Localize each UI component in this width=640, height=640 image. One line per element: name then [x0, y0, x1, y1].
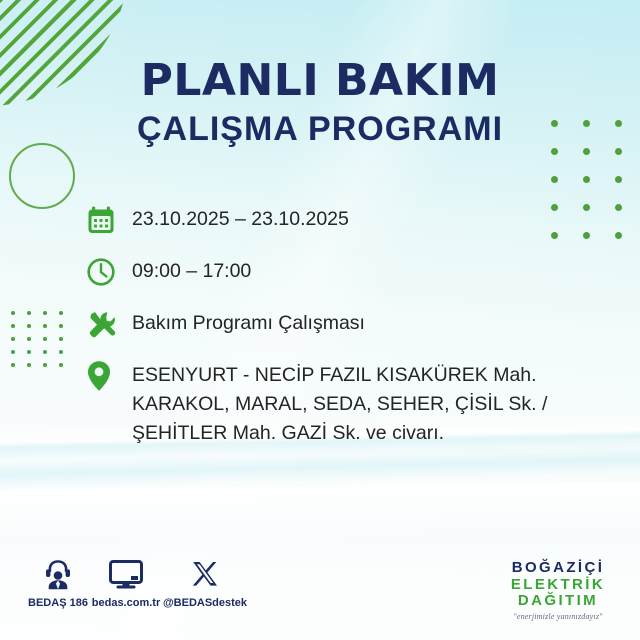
logo-line-2: ELEKTRİK	[490, 577, 626, 594]
tools-icon	[86, 304, 132, 344]
planned-maintenance-poster: PLANLI BAKIM ÇALIŞMA PROGRAMI	[0, 0, 640, 640]
bedas-logo: BOĞAZİÇİ ELEKTRİK DAĞITIM "enerjimizle y…	[490, 560, 626, 621]
detail-row-date: 23.10.2025 – 23.10.2025	[86, 200, 626, 240]
detail-text-date: 23.10.2025 – 23.10.2025	[132, 200, 349, 234]
location-pin-icon	[86, 356, 132, 388]
poster-header: PLANLI BAKIM ÇALIŞMA PROGRAMI	[0, 58, 640, 149]
page-subtitle: ÇALIŞMA PROGRAMI	[0, 110, 640, 149]
circle-outline-decoration	[9, 143, 75, 209]
page-title: PLANLI BAKIM	[0, 58, 640, 104]
detail-row-time: 09:00 – 17:00	[86, 252, 626, 292]
monitor-icon	[108, 556, 144, 592]
detail-text-work-type: Bakım Programı Çalışması	[132, 304, 365, 338]
contact-social-label: @BEDASdestek	[163, 597, 247, 609]
logo-tagline: "enerjimizle yanınızdayız"	[490, 612, 626, 621]
poster-footer: BEDAŞ 186 bedas.com.tr @BEDASdestek	[0, 556, 640, 640]
detail-text-address: ESENYURT - NECİP FAZIL KISAKÜREK Mah. KA…	[132, 356, 620, 448]
contact-website-label: bedas.com.tr	[92, 597, 160, 609]
maintenance-details: 23.10.2025 – 23.10.2025 09:00 – 17:00	[86, 200, 626, 460]
x-twitter-icon	[190, 556, 220, 592]
detail-row-address: ESENYURT - NECİP FAZIL KISAKÜREK Mah. KA…	[86, 356, 626, 448]
dot-grid-left-decoration	[11, 311, 75, 376]
detail-text-time: 09:00 – 17:00	[132, 252, 251, 286]
calendar-icon	[86, 200, 132, 240]
headset-support-icon	[41, 556, 75, 592]
contact-social[interactable]: @BEDASdestek	[155, 556, 255, 609]
logo-line-3: DAĞITIM	[490, 593, 626, 610]
logo-line-1: BOĞAZİÇİ	[490, 560, 626, 577]
detail-row-work-type: Bakım Programı Çalışması	[86, 304, 626, 344]
clock-icon	[86, 252, 132, 292]
